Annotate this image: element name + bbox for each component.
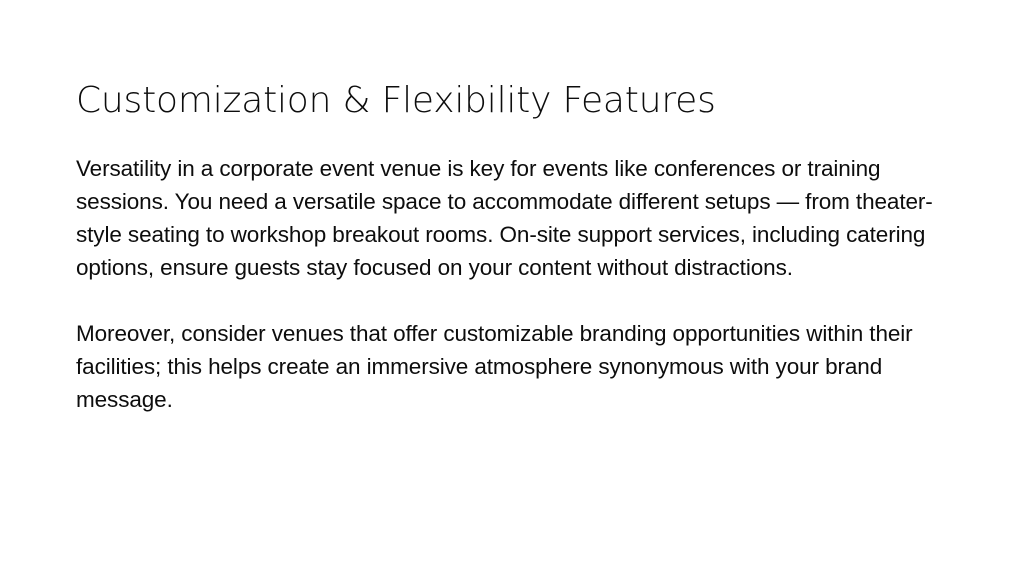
body-paragraph-1: Versatility in a corporate event venue i… — [76, 152, 952, 284]
body-paragraph-2: Moreover, consider venues that offer cus… — [76, 317, 952, 416]
presentation-slide: Customization & Flexibility Features Ver… — [0, 0, 1024, 576]
page-title: Customization & Flexibility Features — [76, 78, 956, 124]
slide-body-content: Versatility in a corporate event venue i… — [76, 152, 952, 416]
